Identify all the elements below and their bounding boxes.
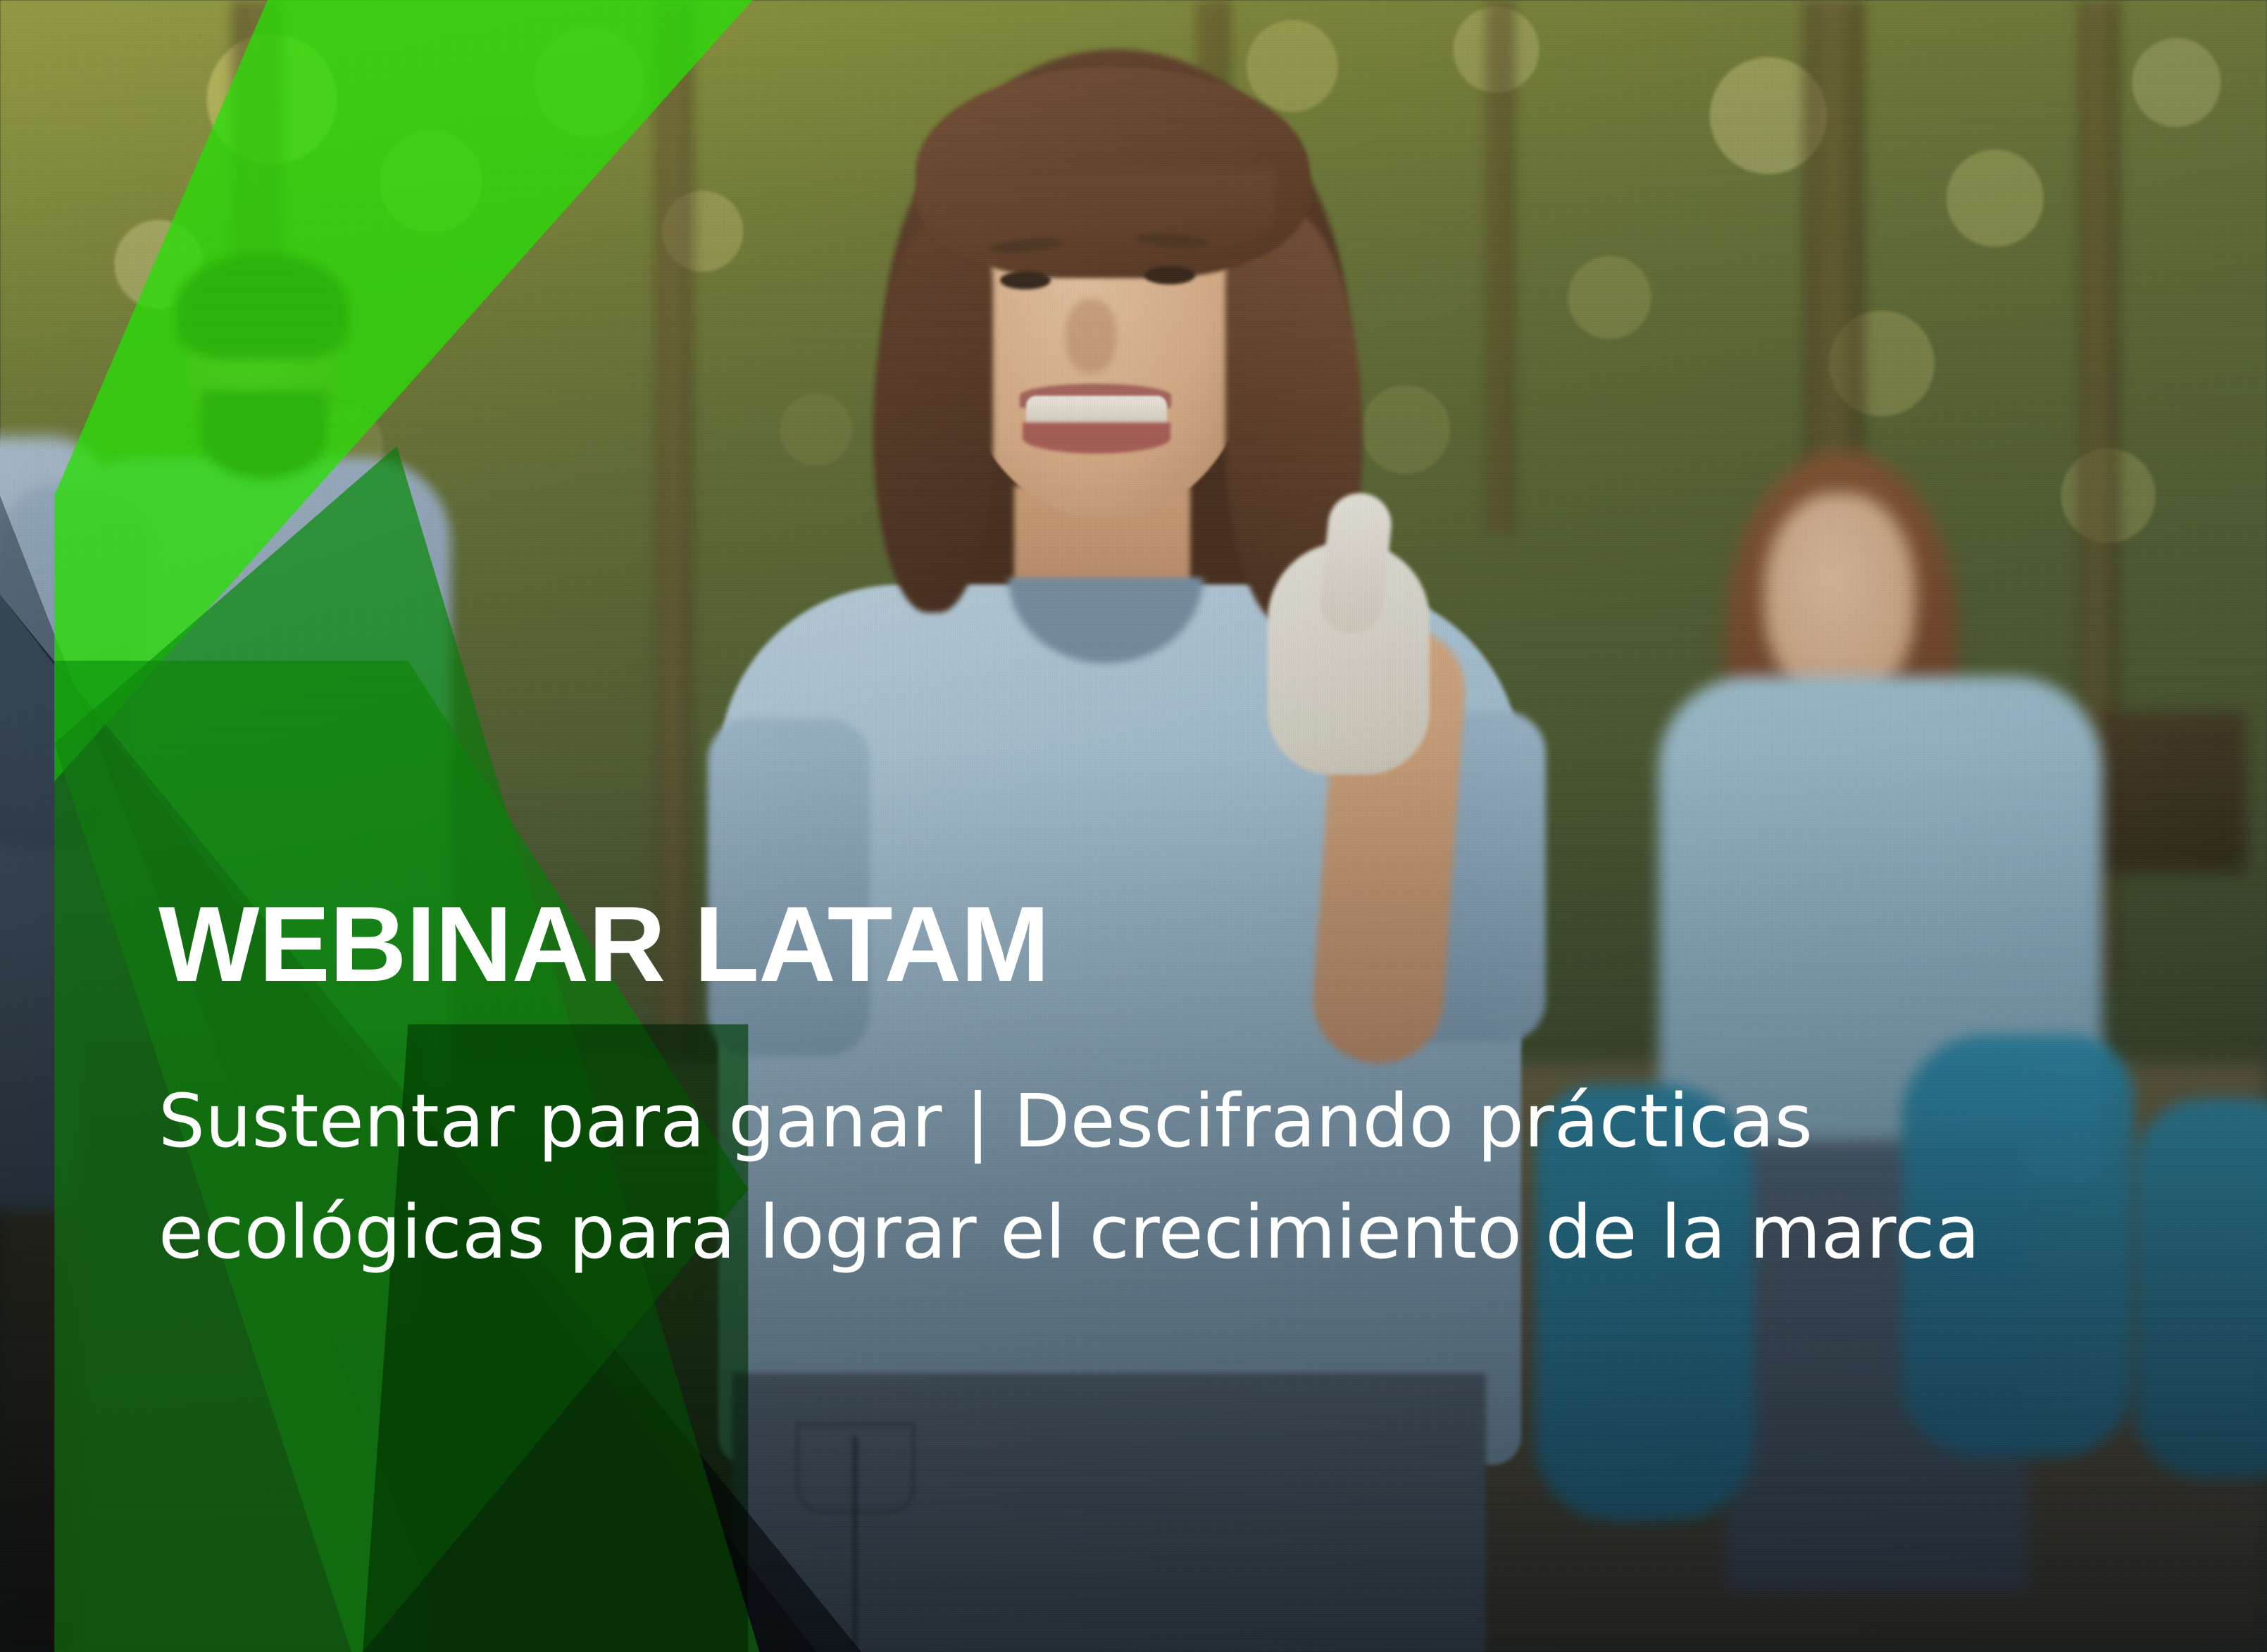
banner-kicker: WEBINAR LATAM <box>158 891 2081 998</box>
webinar-promo-banner: WEBINAR LATAM Sustentar para ganar | Des… <box>0 0 2267 1652</box>
banner-text-block: WEBINAR LATAM Sustentar para ganar | Des… <box>158 891 2081 1288</box>
banner-subtitle: Sustentar para ganar | Descifrando práct… <box>158 1065 2004 1288</box>
